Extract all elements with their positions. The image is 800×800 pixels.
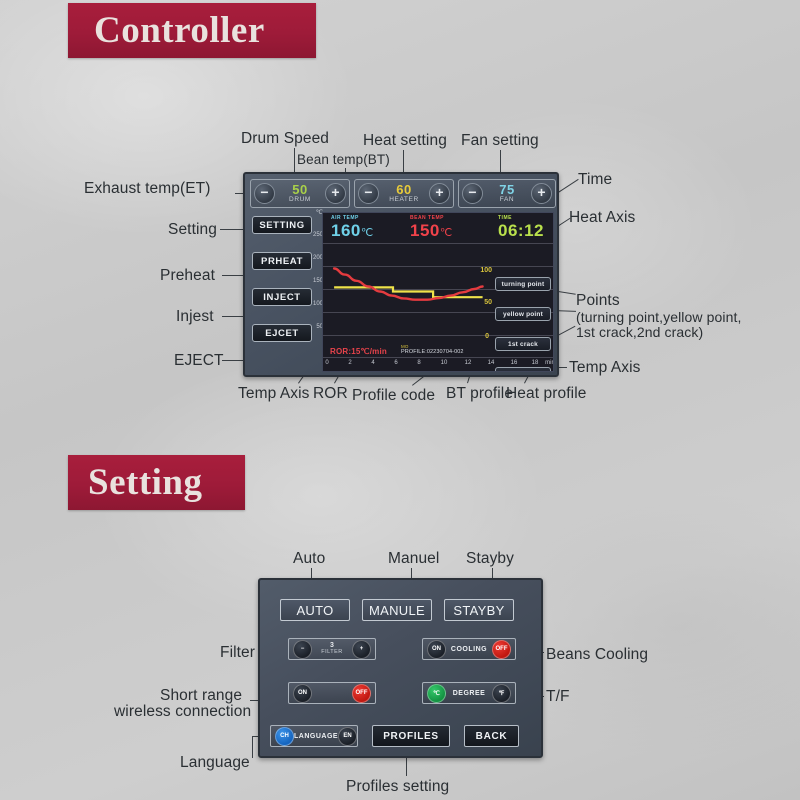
annotation-ror: ROR: [313, 385, 348, 403]
annotation-stayby: Stayby: [466, 550, 514, 568]
drum-value-group: 50 DRUM: [275, 183, 325, 204]
fahrenheit-button[interactable]: ℉: [492, 684, 511, 703]
annotation-heat-profile: Heat profile: [506, 385, 586, 403]
leader-language-v: [252, 736, 253, 758]
air-temp-value: 160℃: [331, 222, 374, 239]
heat-axis-tick-0: 0: [485, 333, 489, 340]
bean-temp-unit: ℃: [440, 227, 453, 239]
cooling-on-button[interactable]: ON: [427, 640, 446, 659]
prheat-button[interactable]: PRHEAT: [252, 252, 312, 270]
fan-value: 75: [483, 183, 531, 196]
drum-plus-button[interactable]: +: [325, 183, 346, 204]
annotation-profiles-setting: Profiles setting: [346, 778, 449, 796]
turning-point-button[interactable]: turning point: [495, 277, 551, 291]
ror-readout: ROR:15℃/min: [330, 347, 387, 356]
bt-profile-curve: [334, 269, 483, 300]
profile-code-value: PROFILE:02230704-002: [401, 349, 464, 355]
time-value: 06:12: [498, 222, 544, 239]
filter-value-group: 3 FILTER: [312, 642, 352, 656]
section-header-controller: Controller: [68, 3, 316, 58]
time-tick-16: 16: [511, 360, 518, 366]
filter-label: FILTER: [312, 650, 352, 656]
section-header-setting: Setting: [68, 455, 245, 510]
time-readout: TIME 06:12: [498, 215, 544, 239]
air-temp-readout: AIR TEMP 160℃: [331, 215, 374, 239]
degree-unit-control[interactable]: ℃ DEGREE ℉: [422, 682, 516, 704]
first-crack-button[interactable]: 1st crack: [495, 337, 551, 351]
heater-value: 60: [379, 183, 429, 196]
leader-time: [558, 179, 579, 193]
celsius-button[interactable]: ℃: [427, 684, 446, 703]
time-tick-18: 18: [532, 360, 539, 366]
bean-temp-readout: BEAN TEMP 150℃: [410, 215, 453, 239]
time-axis: 0 2 4 6 8 10 12 14 16 18 min: [323, 358, 554, 372]
annotation-points-title: Points: [576, 292, 620, 310]
air-temp-unit: ℃: [361, 227, 374, 239]
fan-control[interactable]: − 75 FAN +: [458, 179, 556, 208]
annotation-fan-setting: Fan setting: [461, 132, 539, 150]
annotation-points-detail-2: 1st crack,2nd crack): [576, 324, 703, 340]
heater-control[interactable]: − 60 HEATER +: [354, 179, 454, 208]
annotation-language: Language: [180, 754, 250, 772]
language-control[interactable]: CH LANGUAGE EN: [270, 725, 358, 747]
setting-button[interactable]: SETTING: [252, 216, 312, 234]
drum-minus-button[interactable]: −: [254, 183, 275, 204]
wireless-on-button[interactable]: ON: [293, 684, 312, 703]
fan-minus-button[interactable]: −: [462, 183, 483, 204]
annotation-temp-axis-right: Temp Axis: [569, 359, 641, 377]
filter-minus-button[interactable]: −: [293, 640, 312, 659]
fan-value-group: 75 FAN: [483, 183, 531, 204]
time-axis-unit: min: [545, 360, 554, 366]
wireless-off-button[interactable]: OFF: [352, 684, 371, 703]
back-button[interactable]: BACK: [464, 725, 519, 747]
controller-device: − 50 DRUM + − 60 HEATER + − 75 FAN + SET…: [243, 172, 559, 377]
beans-cooling-control[interactable]: ON COOLING OFF: [422, 638, 516, 660]
heater-label: HEATER: [379, 197, 429, 204]
filter-value: 3: [312, 642, 352, 649]
roast-display-screen[interactable]: AIR TEMP 160℃ BEAN TEMP 150℃ TIME 06:12: [322, 212, 554, 372]
readout-bar: AIR TEMP 160℃ BEAN TEMP 150℃ TIME 06:12: [323, 213, 553, 243]
stayby-mode-button[interactable]: STAYBY: [444, 599, 514, 621]
annotation-points-detail-1: (turning point,yellow point,: [576, 309, 741, 325]
setting-device: AUTO MANULE STAYBY − 3 FILTER + ON COOLI…: [258, 578, 543, 758]
time-tick-8: 8: [417, 360, 420, 366]
annotation-setting: Setting: [168, 221, 217, 239]
annotation-temp-axis-bottom: Temp Axis: [238, 385, 310, 403]
time-tick-14: 14: [488, 360, 495, 366]
time-tick-12: 12: [465, 360, 472, 366]
cooling-off-button[interactable]: OFF: [492, 640, 511, 659]
filter-control[interactable]: − 3 FILTER +: [288, 638, 376, 660]
language-ch-button[interactable]: CH: [275, 727, 294, 746]
heat-axis-tick-100: 100: [480, 267, 492, 274]
annotation-tf: T/F: [546, 688, 570, 706]
annotation-bean-temp: Bean temp(BT): [297, 152, 390, 168]
annotation-exhaust-temp: Exhaust temp(ET): [84, 180, 211, 198]
annotation-beans-cooling: Beans Cooling: [546, 646, 648, 664]
drum-label: DRUM: [275, 197, 325, 204]
cooling-label: COOLING: [446, 646, 492, 653]
bean-temp-value: 150℃: [410, 222, 453, 239]
inject-button[interactable]: INJECT: [252, 288, 312, 306]
language-en-button[interactable]: EN: [338, 727, 357, 746]
time-tick-10: 10: [441, 360, 448, 366]
fan-plus-button[interactable]: +: [531, 183, 552, 204]
heater-minus-button[interactable]: −: [358, 183, 379, 204]
drum-speed-control[interactable]: − 50 DRUM +: [250, 179, 350, 208]
leader-profiles-setting: [406, 758, 407, 776]
annotation-eject: EJECT: [174, 352, 224, 370]
heater-plus-button[interactable]: +: [429, 183, 450, 204]
annotation-profile-code: Profile code: [352, 387, 435, 405]
annotation-filter: Filter: [220, 644, 255, 662]
annotation-injest: Injest: [176, 308, 214, 326]
manule-mode-button[interactable]: MANULE: [362, 599, 432, 621]
profiles-button[interactable]: PROFILES: [372, 725, 450, 747]
annotation-time: Time: [578, 171, 612, 189]
degree-label: DEGREE: [446, 690, 492, 697]
annotation-manuel: Manuel: [388, 550, 439, 568]
wireless-connection-control[interactable]: ON OFF: [288, 682, 376, 704]
annotation-bt-profile: BT profile: [446, 385, 513, 403]
annotation-preheat: Preheat: [160, 267, 215, 285]
time-tick-6: 6: [394, 360, 397, 366]
profile-code-readout: MOPROFILE:02230704-002: [401, 344, 464, 355]
drum-value: 50: [275, 183, 325, 196]
fan-label: FAN: [483, 197, 531, 204]
time-tick-4: 4: [371, 360, 374, 366]
language-label: LANGUAGE: [294, 733, 338, 740]
auto-mode-button[interactable]: AUTO: [280, 599, 350, 621]
time-tick-2: 2: [348, 360, 351, 366]
annotation-heat-axis: Heat Axis: [569, 209, 635, 227]
heater-value-group: 60 HEATER: [379, 183, 429, 204]
yellow-point-button[interactable]: yellow point: [495, 307, 551, 321]
annotation-drum-speed: Drum Speed: [241, 130, 329, 148]
heat-axis-tick-50: 50: [484, 299, 492, 306]
temp-axis: ℃ 250 200 150 100 50: [307, 210, 323, 340]
time-tick-0: 0: [325, 360, 328, 366]
filter-plus-button[interactable]: +: [352, 640, 371, 659]
ejcet-button[interactable]: EJCET: [252, 324, 312, 342]
annotation-auto: Auto: [293, 550, 325, 568]
annotation-short-range-2: wireless connection: [114, 703, 251, 721]
annotation-heat-setting: Heat setting: [363, 132, 447, 150]
roast-curve-plot: 100 50 0 turning point yellow point 1st …: [323, 243, 554, 358]
